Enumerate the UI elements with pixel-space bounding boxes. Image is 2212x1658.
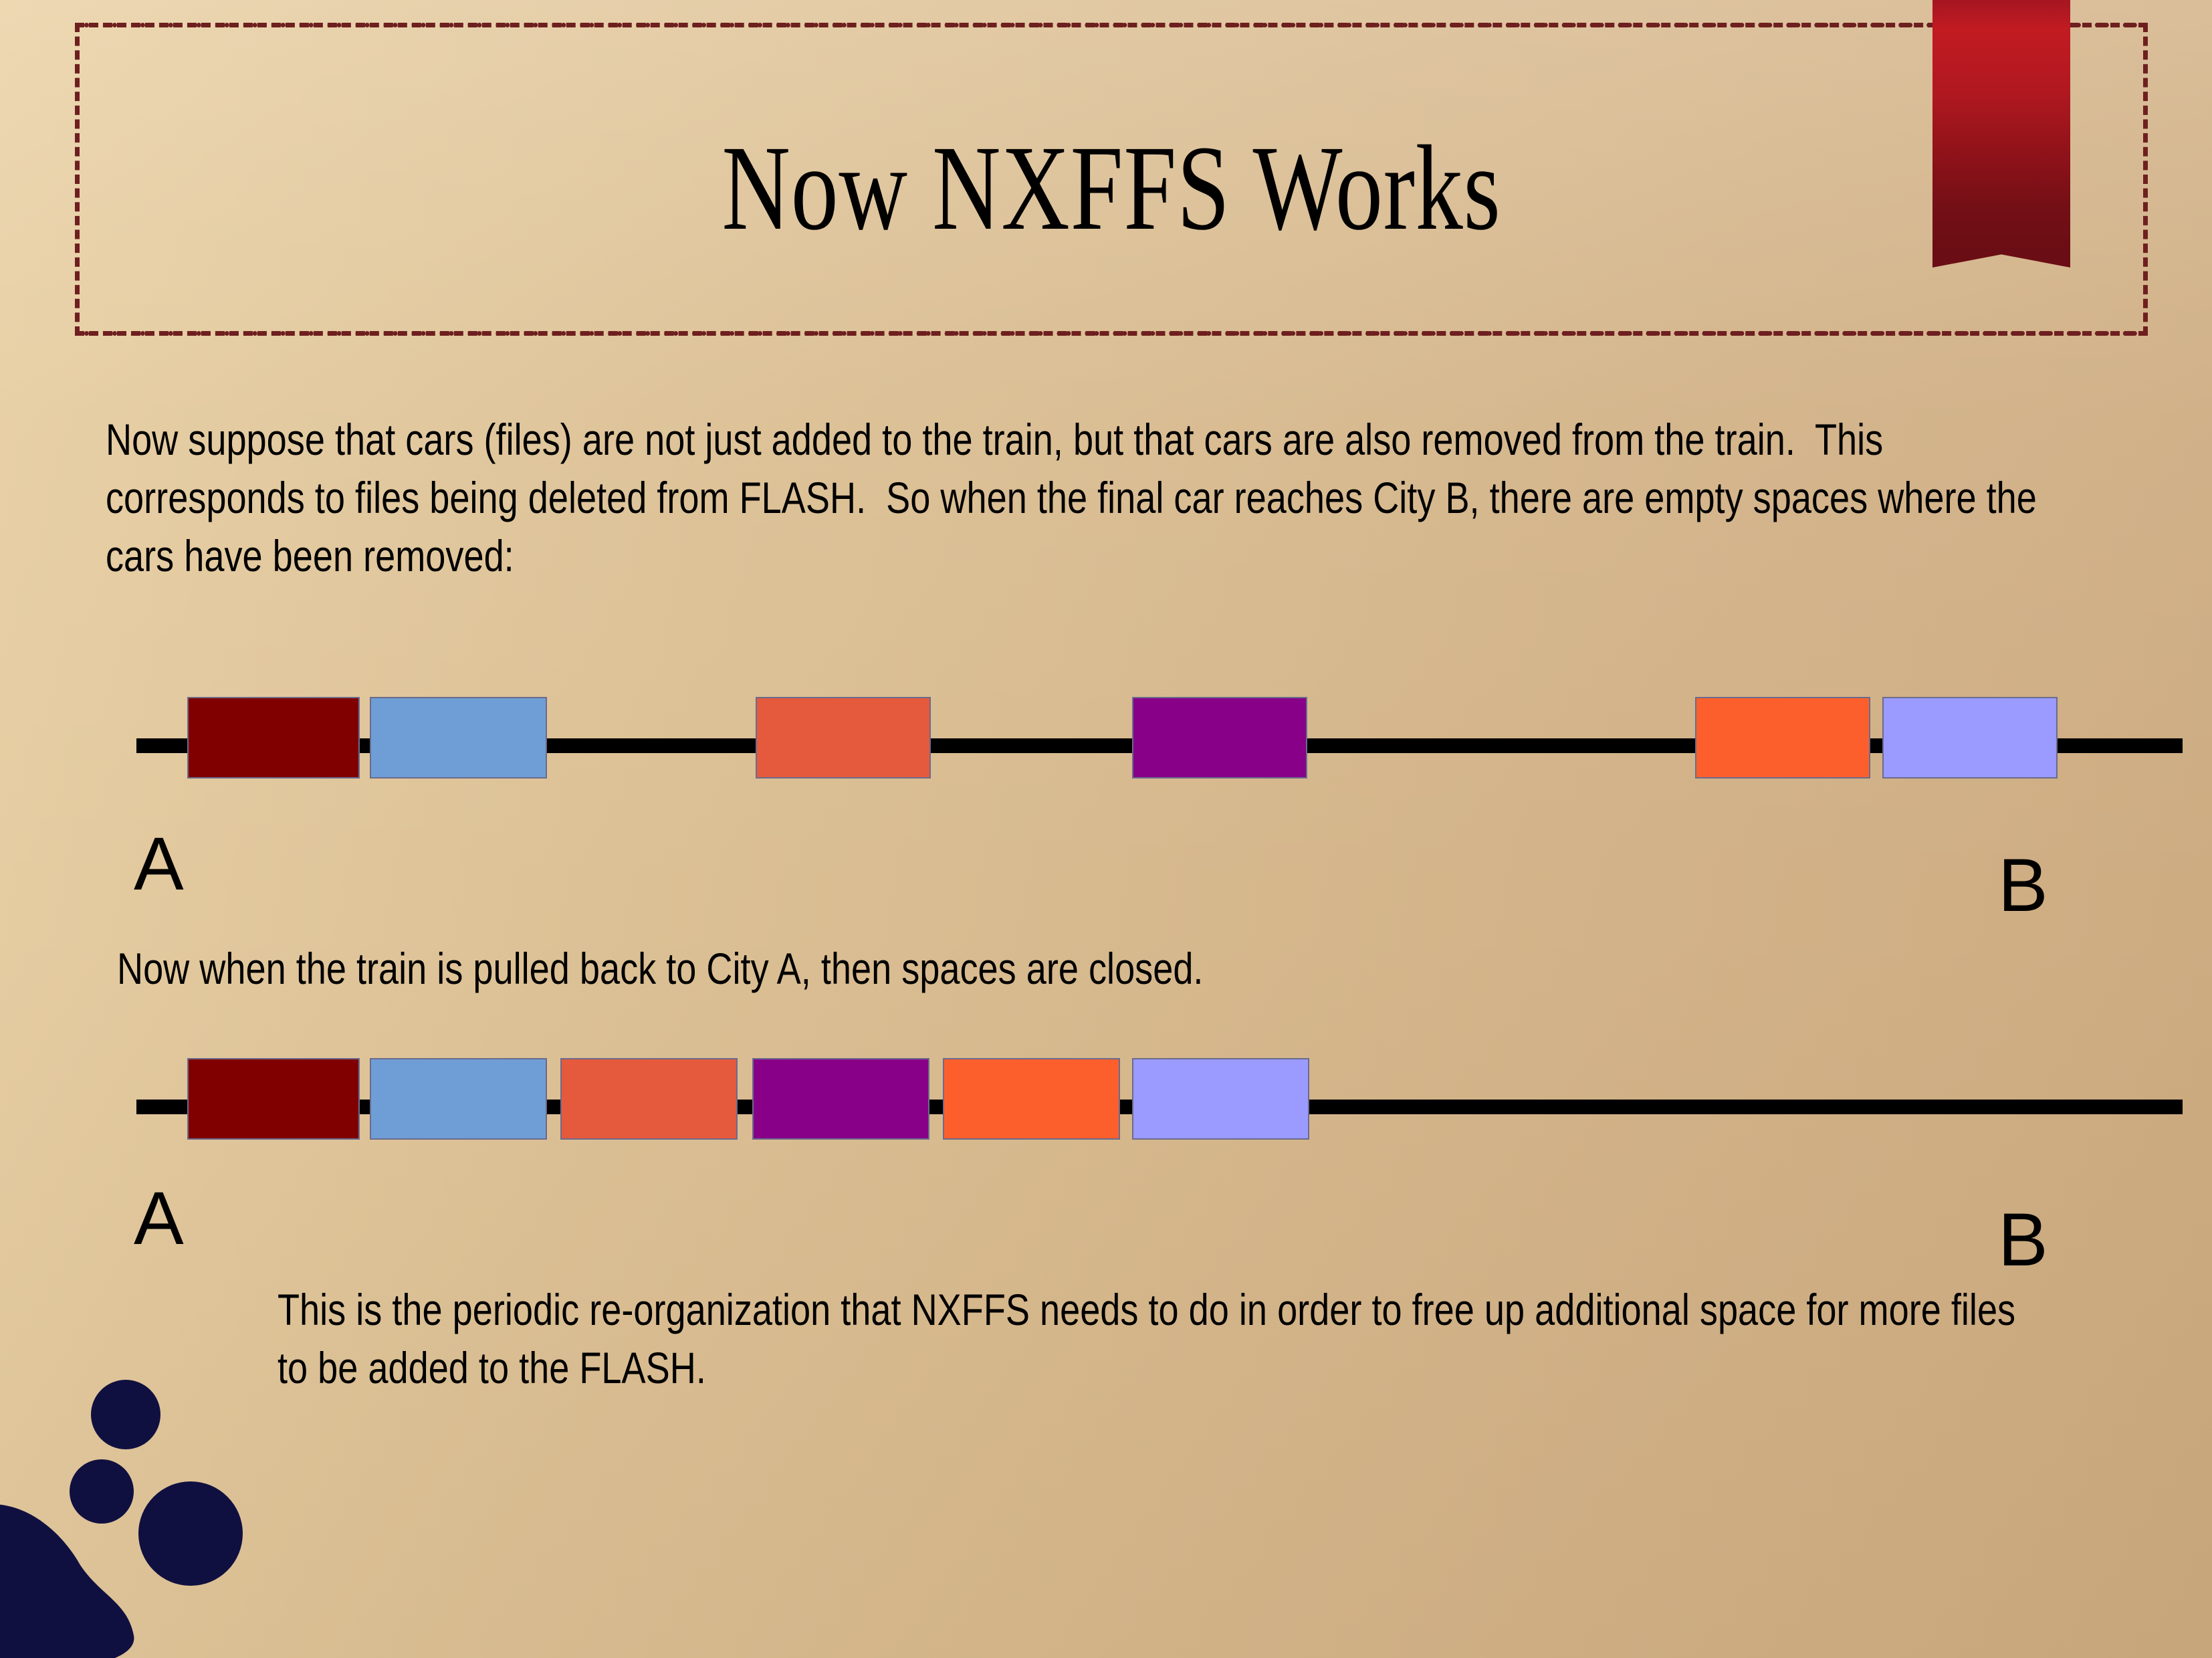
ink-blot-small-mid [70,1459,134,1524]
city-label-a-top: A [134,827,184,902]
ink-blot-decoration [0,1374,314,1658]
middle-paragraph: Now when the train is pulled back to Cit… [117,940,1981,998]
car-periwinkle [1132,1058,1309,1140]
car-steel-blue [370,1058,547,1140]
car-tomato [560,1058,738,1140]
ribbon-decoration [1932,0,2070,249]
car-orange [1695,697,1870,779]
page-title: Now NXFFS Works [306,128,1916,249]
title-frame: Now NXFFS Works [75,23,2148,336]
train-diagram-with-gaps [0,682,2212,809]
ink-blot-large-right [138,1481,243,1586]
conclusion-paragraph: This is the periodic re-organization tha… [278,1281,2032,1397]
intro-paragraph: Now suppose that cars (files) are not ju… [106,411,2080,585]
city-label-b-bottom: B [1998,1203,2048,1277]
car-dark-red [187,697,360,779]
city-label-b-top: B [1998,848,2048,923]
train-diagram-compacted [0,1043,2212,1170]
car-tomato [756,697,931,779]
car-periwinkle [1882,697,2058,779]
slide-canvas: Now NXFFS Works Now suppose that cars (f… [0,0,2212,1658]
car-purple [752,1058,929,1140]
car-purple [1132,697,1307,779]
ink-blot-corner-mass [0,1504,134,1658]
car-orange [943,1058,1120,1140]
car-dark-red [187,1058,360,1140]
city-label-a-bottom: A [134,1181,184,1256]
car-steel-blue [370,697,547,779]
ink-blot-small-top [91,1380,160,1449]
